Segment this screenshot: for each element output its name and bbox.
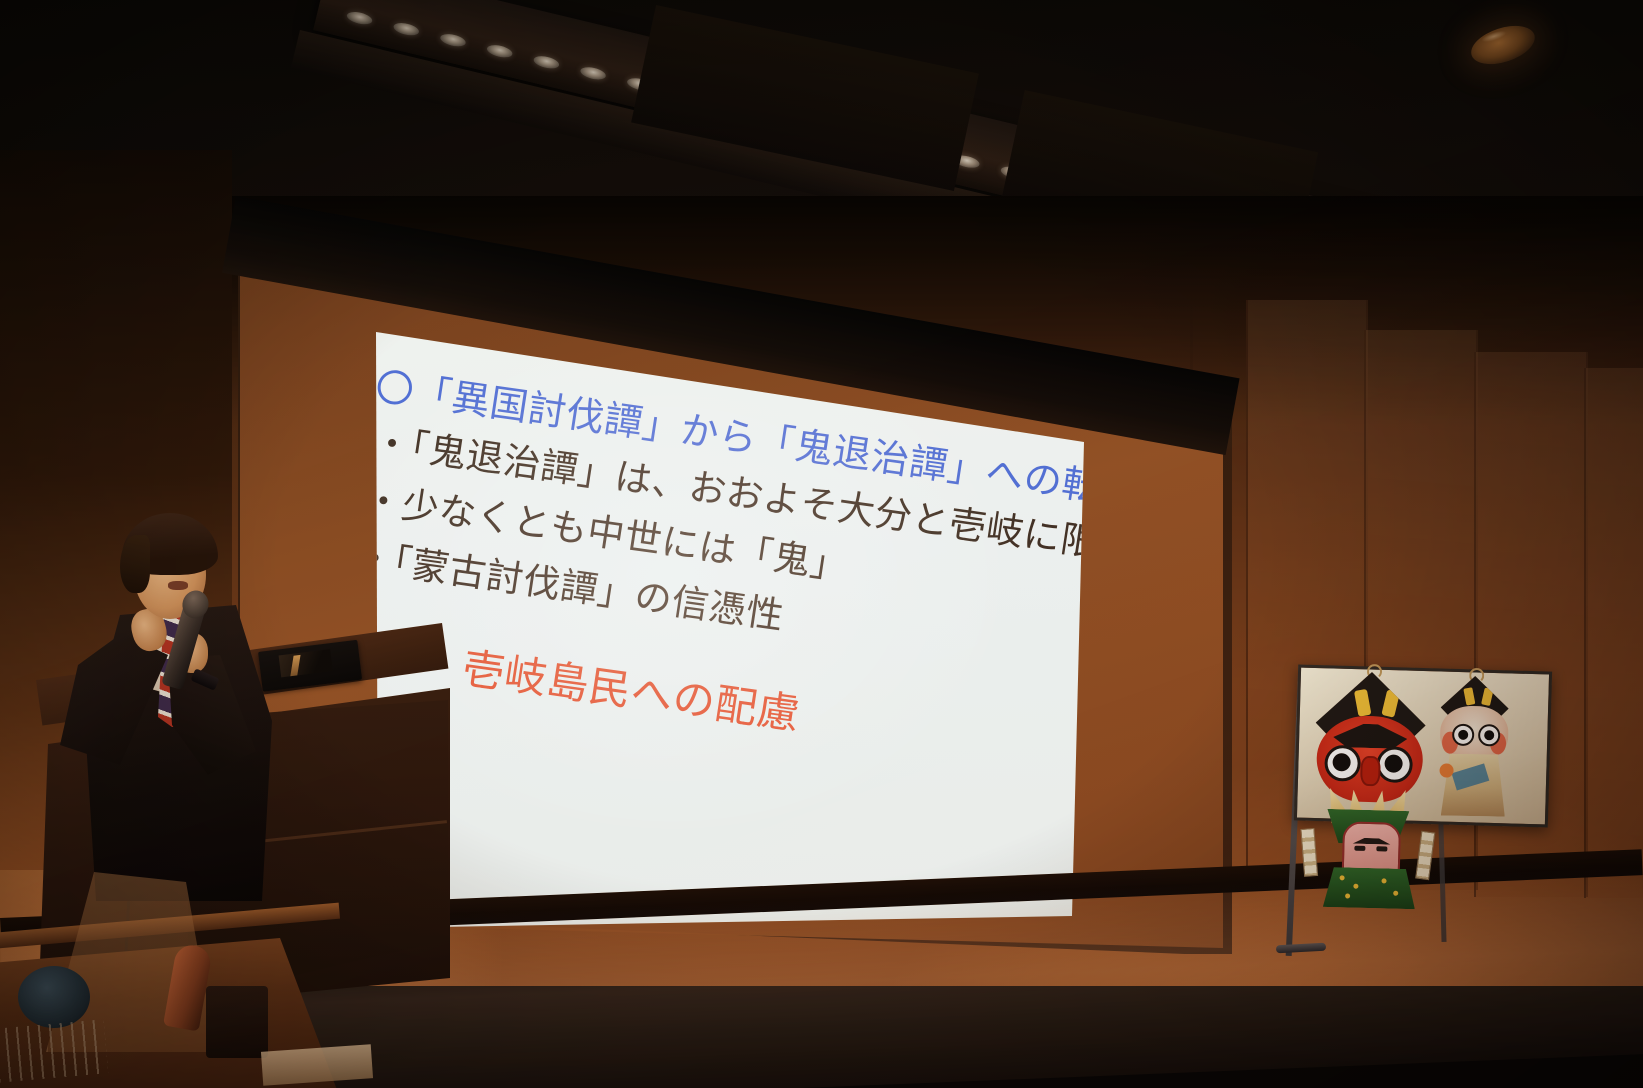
speaker-mouth bbox=[168, 581, 188, 590]
kite-tassel-left bbox=[1300, 828, 1318, 877]
downlight-icon bbox=[579, 65, 607, 82]
warrior-brow bbox=[1353, 838, 1391, 845]
speaker-grille bbox=[0, 1019, 108, 1082]
oni-horn-left bbox=[1354, 689, 1372, 717]
warrior-armor bbox=[1323, 867, 1416, 909]
armor-dot bbox=[1393, 891, 1398, 896]
laptop-screen bbox=[279, 649, 333, 677]
pale-oni-kite bbox=[1431, 675, 1515, 816]
warrior-eye-left bbox=[1354, 846, 1365, 851]
spotlight-icon bbox=[1466, 19, 1539, 72]
auditorium-room: 〇「異国討伐譚」から「鬼退治譚」への転訛 ・「鬼退治譚」は、おおよそ大分と壱岐に… bbox=[0, 0, 1643, 1088]
downlight-icon bbox=[486, 42, 514, 59]
slide-emphasis-text: 壱岐島民への配慮 bbox=[459, 634, 805, 742]
downlight-icon bbox=[439, 31, 467, 48]
oni-horn-left bbox=[1463, 687, 1475, 705]
oni-eye-left bbox=[1452, 724, 1474, 746]
presentation-photo: 〇「異国討伐譚」から「鬼退治譚」への転訛 ・「鬼退治譚」は、おおよそ大分と壱岐に… bbox=[0, 0, 1643, 1088]
armor-dot bbox=[1353, 884, 1358, 889]
speaker bbox=[40, 505, 270, 925]
downlight-icon bbox=[346, 9, 374, 26]
armor-dot bbox=[1345, 893, 1350, 898]
oni-horn-right bbox=[1481, 687, 1494, 706]
oni-nose bbox=[1360, 756, 1381, 787]
wall-panel bbox=[1584, 368, 1643, 898]
pen-cup bbox=[206, 986, 268, 1058]
warrior-eye-right bbox=[1376, 846, 1387, 851]
oni-horn-right bbox=[1381, 689, 1400, 717]
speaker-hair-side bbox=[120, 535, 150, 593]
downlight-icon bbox=[533, 53, 561, 70]
downlight-icon bbox=[392, 20, 420, 37]
foreground-disc bbox=[18, 966, 90, 1028]
red-oni-kite bbox=[1305, 670, 1433, 903]
armor-dot bbox=[1381, 878, 1386, 883]
armor-dot bbox=[1340, 875, 1345, 880]
